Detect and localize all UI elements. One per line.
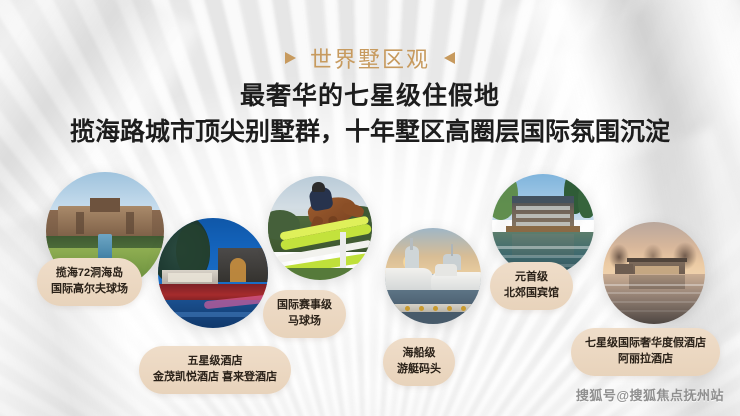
- feature-item-yacht-marina: 海船级 游艇码头: [385, 228, 481, 324]
- feature-item-alila-resort: 七星级国际奢华度假酒店 阿丽拉酒店: [603, 222, 705, 324]
- feature-image-polo: [268, 176, 372, 280]
- feature-label-line2: 阿丽拉酒店: [585, 352, 706, 368]
- feature-label-line2: 北郊国宾馆: [504, 286, 559, 302]
- feature-item-five-star-hotel: 五星级酒店 金茂凯悦酒店 喜来登酒店: [158, 218, 268, 328]
- feature-image-yacht-marina: [385, 228, 481, 324]
- feature-label-line1: 国际赛事级: [277, 298, 332, 314]
- feature-item-polo: 国际赛事级 马球场: [268, 176, 372, 280]
- feature-label-golf: 揽海72洞海岛 国际高尔夫球场: [37, 258, 142, 306]
- headline-line-1: 最奢华的七星级住假地: [0, 80, 740, 112]
- feature-label-line1: 五星级酒店: [153, 354, 277, 370]
- feature-label-state-guesthouse: 元首级 北郊国宾馆: [490, 262, 573, 310]
- page-title: 最奢华的七星级住假地 揽海路城市顶尖别墅群，十年墅区高圈层国际氛围沉淀: [0, 80, 740, 148]
- feature-label-line1: 海船级: [397, 346, 441, 362]
- triangle-right-icon: [444, 52, 455, 64]
- feature-label-line2: 金茂凯悦酒店 喜来登酒店: [153, 370, 277, 386]
- eyebrow-label: 世界墅区观: [310, 42, 430, 74]
- feature-label-line2: 马球场: [277, 314, 332, 330]
- headline-line-2: 揽海路城市顶尖别墅群，十年墅区高圈层国际氛围沉淀: [0, 116, 740, 148]
- section-eyebrow: 世界墅区观: [0, 42, 740, 74]
- feature-label-line1: 揽海72洞海岛: [51, 266, 128, 282]
- feature-label-line2: 国际高尔夫球场: [51, 282, 128, 298]
- promo-banner: 世界墅区观 最奢华的七星级住假地 揽海路城市顶尖别墅群，十年墅区高圈层国际氛围沉…: [0, 0, 740, 416]
- feature-image-state-guesthouse: [492, 174, 594, 276]
- feature-image-five-star-hotel: [158, 218, 268, 328]
- feature-label-line2: 游艇码头: [397, 362, 441, 378]
- triangle-left-icon: [285, 52, 296, 64]
- feature-label-line1: 七星级国际奢华度假酒店: [585, 336, 706, 352]
- feature-item-state-guesthouse: 元首级 北郊国宾馆: [492, 174, 594, 276]
- feature-label-yacht-marina: 海船级 游艇码头: [383, 338, 455, 386]
- watermark-label: 搜狐号@搜狐焦点抚州站: [576, 385, 724, 404]
- feature-image-alila-resort: [603, 222, 705, 324]
- feature-label-alila-resort: 七星级国际奢华度假酒店 阿丽拉酒店: [571, 328, 720, 376]
- feature-item-golf: 揽海72洞海岛 国际高尔夫球场: [46, 172, 164, 290]
- feature-label-line1: 元首级: [504, 270, 559, 286]
- feature-label-five-star-hotel: 五星级酒店 金茂凯悦酒店 喜来登酒店: [139, 346, 291, 394]
- feature-label-polo: 国际赛事级 马球场: [263, 290, 346, 338]
